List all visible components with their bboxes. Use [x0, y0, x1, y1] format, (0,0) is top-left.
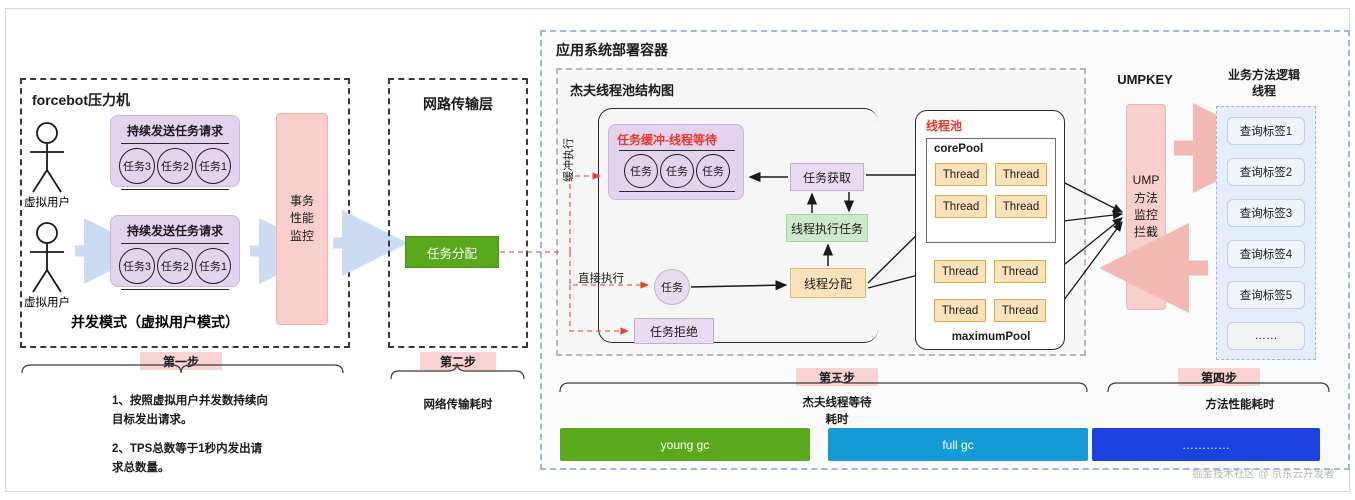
ump-line: UMP	[1133, 172, 1160, 189]
ump-intercept-box: UMP 方法 监控 拦截	[1126, 104, 1166, 310]
umpkey-title: UMPKEY	[1104, 70, 1186, 88]
request-card-1-header: 持续发送任务请求	[111, 116, 239, 139]
thread-exec-task-node: 线程执行任务	[786, 214, 868, 242]
request-card-2-tasks: 任务3 任务2 任务1	[111, 248, 239, 284]
transaction-monitor-box: 事务 性能 监控	[276, 113, 328, 325]
divider	[121, 289, 229, 290]
business-thread-title: 业务方法逻辑 线程	[1212, 66, 1316, 100]
diagram-canvas: forcebot压力机 虚拟用户 虚拟用户	[0, 0, 1355, 500]
step-3-caption-line1: 杰夫线程等待	[803, 395, 872, 412]
note-line: 目标发出请求。	[112, 411, 352, 430]
divider	[121, 143, 229, 144]
request-card-1-tasks: 任务3 任务2 任务1	[111, 148, 239, 184]
task-fetch-node: 任务获取	[790, 163, 864, 191]
thread-box: Thread	[994, 299, 1046, 322]
divider	[619, 150, 735, 151]
thread-box: Thread	[995, 163, 1047, 186]
query-tag-item: ……	[1227, 322, 1305, 350]
thread-box: Thread	[934, 260, 986, 283]
request-card-1: 持续发送任务请求 任务3 任务2 任务1	[110, 115, 240, 187]
thread-box: Thread	[994, 260, 1046, 283]
user-label-2: 虚拟用户	[14, 294, 80, 310]
task-chip: 任务1	[195, 148, 231, 184]
core-pool-label: corePool	[934, 143, 983, 155]
network-panel: 网路传输层	[388, 78, 528, 348]
thread-alloc-node: 线程分配	[790, 268, 866, 298]
core-pool-box: corePool Thread Thread Thread Thread	[926, 138, 1056, 243]
thread-box: Thread	[935, 195, 987, 218]
task-chip: 任务3	[119, 148, 155, 184]
network-title: 网路传输层	[390, 94, 526, 114]
monitor-line: 监控	[290, 228, 314, 245]
task-buffer-items: 任务 任务 任务	[619, 154, 735, 188]
gc-bar-young: young gc	[560, 428, 810, 461]
step-3-caption: 杰夫线程等待 耗时	[760, 395, 914, 429]
ump-line: 监控	[1134, 207, 1158, 224]
task-reject-node: 任务拒绝	[634, 318, 714, 344]
step-1-notes: 1、按照虚拟用户并发数持续向 目标发出请求。 2、TPS总数等于1秒内发出请 求…	[112, 392, 352, 478]
step-badge-4: 第四步	[1178, 368, 1260, 386]
step-4-caption: 方法性能耗时	[1140, 395, 1340, 413]
query-tag-item: 查询标签5	[1227, 281, 1305, 309]
query-tag-item: 查询标签1	[1227, 117, 1305, 145]
thread-pool-box: 线程池 corePool Thread Thread Thread Thread…	[915, 110, 1065, 350]
task-chip: 任务1	[195, 248, 231, 284]
task-chip: 任务	[660, 154, 694, 188]
forcebot-title: forcebot压力机	[32, 90, 130, 110]
divider	[619, 191, 735, 192]
monitor-line: 事务	[290, 193, 314, 210]
step-badge-1: 第一步	[140, 352, 222, 370]
task-allocation-box: 任务分配	[405, 236, 499, 268]
thread-box: Thread	[995, 195, 1047, 218]
divider	[121, 243, 229, 244]
divider	[121, 189, 229, 190]
gc-bar-other: …………	[1092, 428, 1320, 461]
watermark: 掘金技术社区 @ 京东云开发者	[1192, 466, 1335, 481]
step-badge-2: 第二步	[420, 352, 496, 370]
buffered-exec-label: 缓冲执行	[560, 122, 576, 182]
request-card-2-header: 持续发送任务请求	[111, 216, 239, 239]
ump-line: 方法	[1134, 190, 1158, 207]
maximum-pool-label: maximumPool	[916, 329, 1066, 345]
step-2-caption: 网络传输耗时	[388, 396, 528, 414]
ump-line: 拦截	[1134, 224, 1158, 241]
thread-pool-title: 线程池	[926, 117, 962, 134]
query-tag-item: 查询标签2	[1227, 158, 1305, 186]
thread-box: Thread	[935, 163, 987, 186]
user-label-1: 虚拟用户	[14, 194, 80, 210]
query-tag-item: 查询标签3	[1227, 199, 1305, 227]
app-container-title: 应用系统部署容器	[556, 40, 668, 60]
task-chip: 任务2	[157, 248, 193, 284]
task-buffer-card: 任务缓冲-线程等待 任务 任务 任务	[608, 124, 744, 200]
direct-exec-label: 直接执行	[578, 270, 624, 286]
business-title-line1: 业务方法逻辑	[1228, 67, 1300, 83]
task-chip: 任务3	[119, 248, 155, 284]
gc-bar-full: full gc	[828, 428, 1088, 461]
note-line: 2、TPS总数等于1秒内发出请	[112, 440, 352, 459]
step-3-caption-line2: 耗时	[826, 412, 849, 429]
monitor-line: 性能	[290, 210, 314, 227]
task-chip: 任务2	[157, 148, 193, 184]
step-badge-3: 第三步	[796, 368, 878, 386]
business-thread-panel: 查询标签1 查询标签2 查询标签3 查询标签4 查询标签5 ……	[1216, 106, 1316, 360]
query-tag-item: 查询标签4	[1227, 240, 1305, 268]
task-chip: 任务	[624, 154, 658, 188]
note-line: 求总数量。	[112, 459, 352, 478]
concurrency-mode-label: 并发模式（虚拟用户模式）	[40, 312, 270, 332]
task-node-circle: 任务	[654, 269, 690, 305]
note-line: 1、按照虚拟用户并发数持续向	[112, 392, 352, 411]
thread-box: Thread	[934, 299, 986, 322]
task-buffer-title: 任务缓冲-线程等待	[617, 131, 717, 148]
task-chip: 任务	[696, 154, 730, 188]
request-card-2: 持续发送任务请求 任务3 任务2 任务1	[110, 215, 240, 287]
business-title-line2: 线程	[1252, 83, 1276, 99]
threadpool-structure-title: 杰夫线程池结构图	[570, 80, 674, 99]
